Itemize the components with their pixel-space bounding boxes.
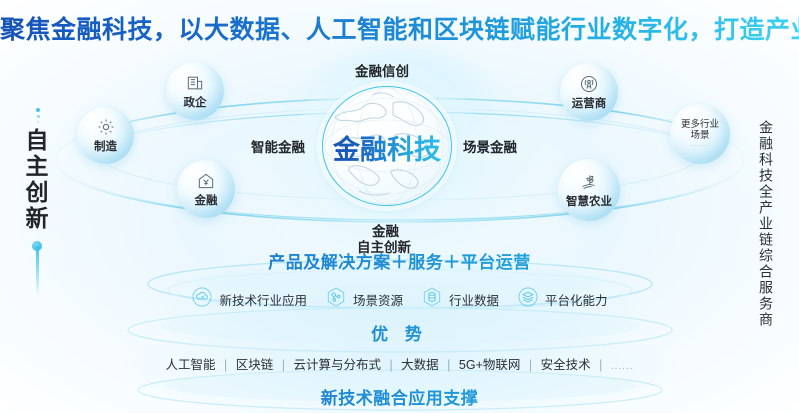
tech-item: 区块链 <box>236 358 274 372</box>
capability-label: 新技术行业应用 <box>219 290 307 309</box>
capability-item[interactable]: 新技术行业应用 <box>191 286 307 313</box>
capability-item[interactable]: 平台化能力 <box>517 286 608 313</box>
bubble-label: 智慧农业 <box>566 193 612 209</box>
bubble-more-dots: ······ <box>691 143 709 149</box>
bubble-zhizao[interactable]: 制造 <box>77 107 134 164</box>
core-globe: 金融科技 <box>318 84 456 208</box>
tech-item: 5G+物联网 <box>459 358 520 372</box>
layers-icon <box>517 286 539 313</box>
advantage-line: 优 势 <box>0 320 799 345</box>
product-line: 产品及解决方案＋服务＋平台运营 <box>0 248 799 273</box>
capability-item[interactable]: 行业数据 <box>421 286 499 313</box>
separator: | <box>599 358 602 372</box>
bubble-zhengqi[interactable]: 政企 <box>166 62 224 120</box>
capability-label: 平台化能力 <box>545 290 608 309</box>
separator: | <box>447 358 450 372</box>
bubble-label: 政企 <box>184 94 207 110</box>
bubble-yunyingshang[interactable]: 运营商 <box>560 63 618 121</box>
bubble-label: 金融 <box>195 192 218 208</box>
network-icon <box>325 286 347 313</box>
building-icon <box>185 73 205 93</box>
bubble-label: 更多行业场景 <box>679 119 721 141</box>
capability-label: 行业数据 <box>449 290 499 309</box>
tech-item: 人工智能 <box>165 358 215 372</box>
separator: | <box>529 358 532 372</box>
antenna-icon <box>579 74 599 94</box>
technology-list: 人工智能 | 区块链 | 云计算与分布式 | 大数据 | 5G+物联网 | 安全… <box>0 354 799 373</box>
left-vertical-label: 自主创新 <box>18 128 52 232</box>
capability-label: 场景资源 <box>353 290 403 309</box>
core-label-right: 场景金融 <box>463 136 517 156</box>
bubble-label: 制造 <box>94 138 117 154</box>
page-title: 聚焦金融科技，以大数据、人工智能和区块链赋能行业数字化，打造产业融合新生态 <box>0 10 799 46</box>
capability-item[interactable]: 场景资源 <box>325 286 403 313</box>
separator: | <box>389 358 392 372</box>
tech-item: 大数据 <box>401 358 439 372</box>
bubble-label: 运营商 <box>572 95 607 111</box>
support-line: 新技术融合应用支撑 <box>0 384 799 409</box>
globe-label: 金融科技 <box>318 128 456 167</box>
capability-row: 新技术行业应用 场景资源 <box>0 286 799 313</box>
core-label-top: 金融信创 <box>355 60 409 80</box>
separator: | <box>282 358 285 372</box>
cloud-icon <box>191 286 213 313</box>
database-icon <box>421 286 443 313</box>
tech-item: 安全技术 <box>541 358 591 372</box>
tech-more: ...... <box>611 361 634 372</box>
bank-icon <box>196 171 216 191</box>
left-dots-decoration <box>34 108 42 126</box>
bubble-zhihuinongye[interactable]: 智慧农业 <box>558 159 620 221</box>
infographic-canvas: 聚焦金融科技，以大数据、人工智能和区块链赋能行业数字化，打造产业融合新生态 自主… <box>0 0 799 413</box>
gear-icon <box>96 117 116 137</box>
bubble-jinrong[interactable]: 金融 <box>177 160 235 218</box>
separator: | <box>224 358 227 372</box>
core-label-left: 智能金融 <box>251 136 305 156</box>
agriculture-icon <box>579 172 599 192</box>
bubble-gengduo[interactable]: 更多行业场景 ······ <box>670 104 730 164</box>
tech-item: 云计算与分布式 <box>293 358 381 372</box>
